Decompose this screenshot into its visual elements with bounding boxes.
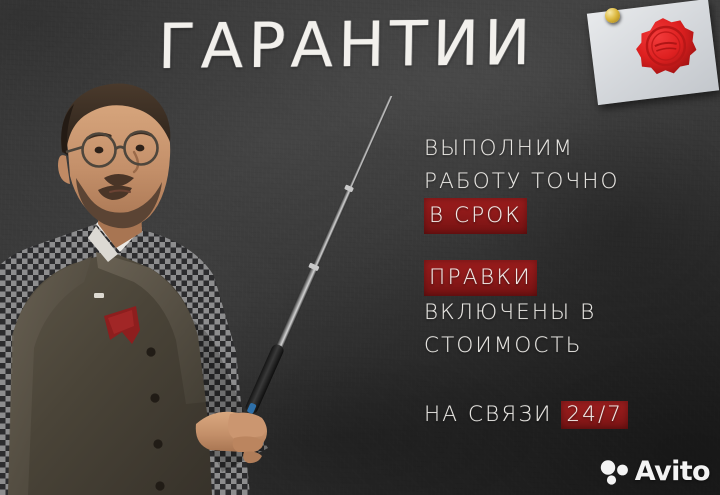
avito-dots-logo: [600, 459, 630, 485]
advertisement-banner: ГАРАНТИИ ВЫПОЛНИМ РАБОТУ ТОЧНО В СРОК ПР…: [0, 0, 720, 495]
benefit-line: ВКЛЮЧЕНЫ В: [424, 296, 716, 329]
availability-line: НА СВЯЗИ 24/7: [424, 398, 716, 431]
benefit-group: ПРАВКИ ВКЛЮЧЕНЫ В СТОИМОСТЬ: [424, 260, 716, 362]
wax-seal-stamp: [633, 14, 699, 80]
benefit-line: ВЫПОЛНИМ: [424, 132, 716, 165]
availability-prefix: НА СВЯЗИ: [424, 402, 561, 427]
avito-watermark: Avito: [600, 456, 710, 487]
benefit-line: СТОИМОСТЬ: [424, 329, 716, 362]
benefits-copy: ВЫПОЛНИМ РАБОТУ ТОЧНО В СРОК ПРАВКИ ВКЛЮ…: [424, 132, 716, 431]
push-pin: [605, 8, 620, 23]
page-title: ГАРАНТИИ: [157, 12, 535, 78]
avito-wordmark: Avito: [635, 456, 710, 487]
benefit-line-highlighted: ПРАВКИ: [424, 260, 537, 296]
availability-badge: 24/7: [561, 401, 628, 429]
benefit-line-highlighted: В СРОК: [424, 198, 527, 234]
benefit-line: РАБОТУ ТОЧНО: [424, 165, 716, 198]
benefit-group: ВЫПОЛНИМ РАБОТУ ТОЧНО В СРОК: [424, 132, 716, 234]
